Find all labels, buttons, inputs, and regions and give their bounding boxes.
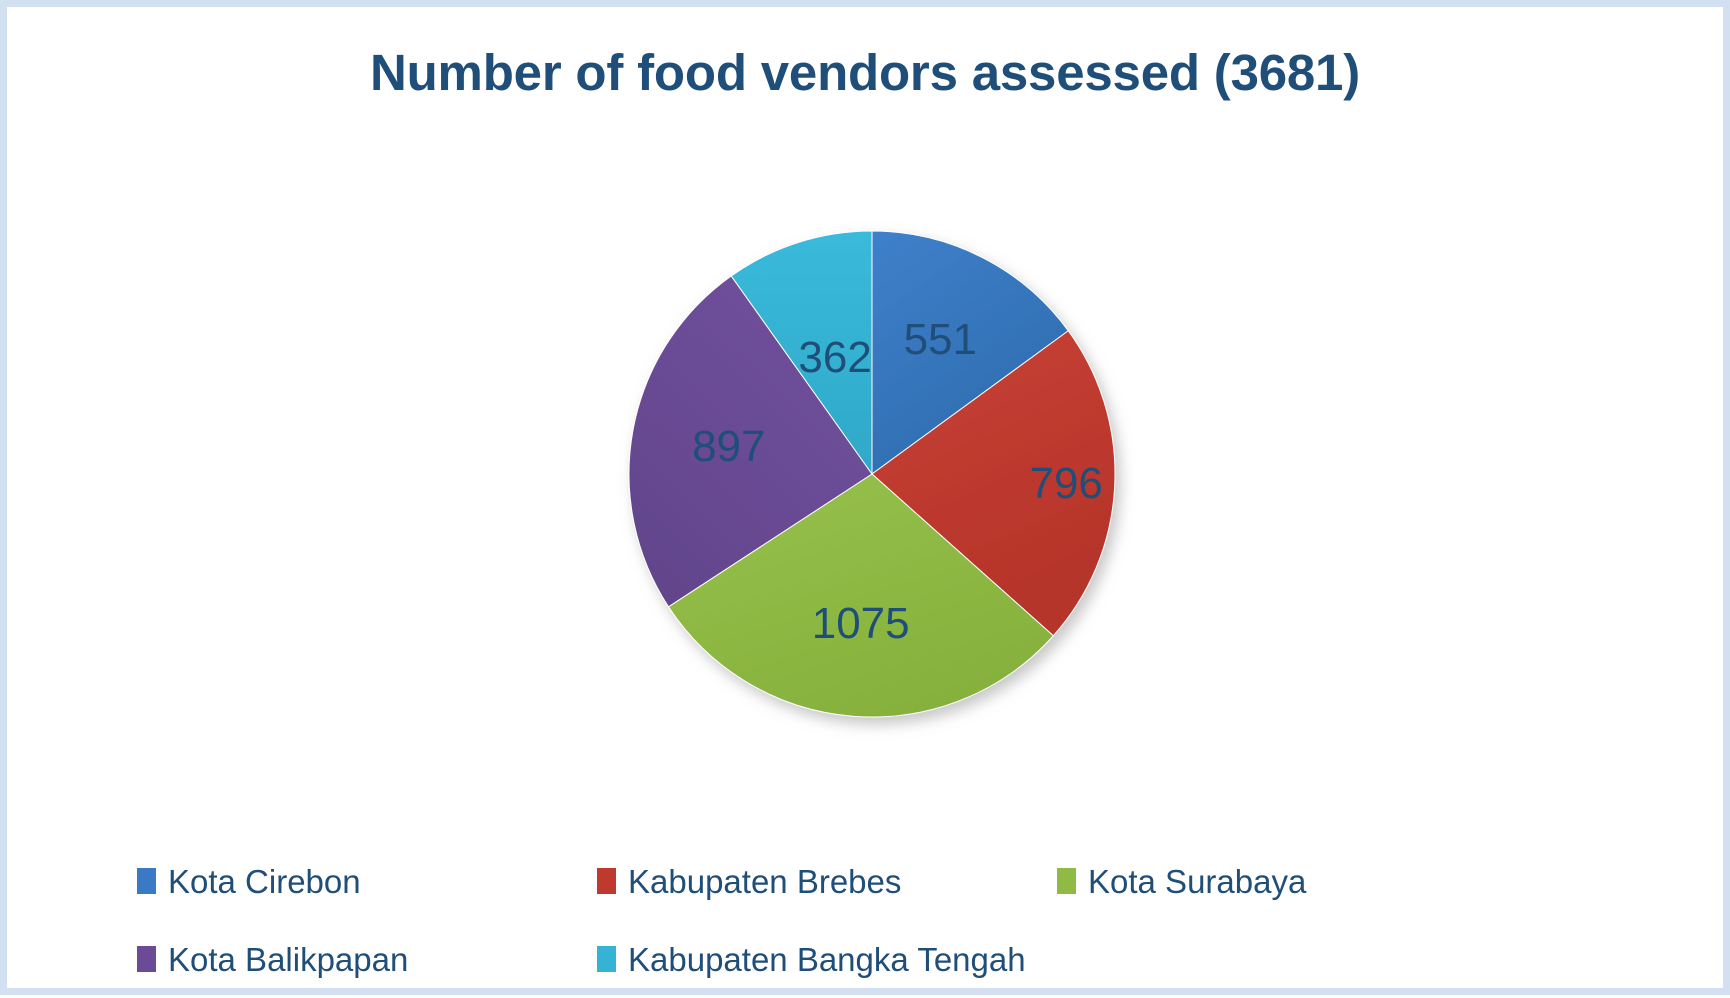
legend-item-label: Kabupaten Bangka Tengah	[628, 943, 1026, 976]
pie-chart: 5517961075897362	[627, 229, 1117, 719]
legend-item[interactable]: Kota Surabaya	[1057, 842, 1517, 920]
legend-swatch-icon	[597, 868, 616, 894]
legend-item-label: Kota Surabaya	[1088, 865, 1306, 898]
pie-slice-group	[629, 231, 1115, 717]
legend-swatch-icon	[137, 868, 156, 894]
chart-legend: Kota CirebonKabupaten BrebesKota Surabay…	[137, 842, 1617, 998]
legend-item-label: Kota Balikpapan	[168, 943, 408, 976]
legend-item-label: Kota Cirebon	[168, 865, 361, 898]
legend-item[interactable]: Kabupaten Bangka Tengah	[597, 920, 1057, 998]
slide-canvas: Number of food vendors assessed (3681)	[0, 0, 1730, 995]
legend-item-label: Kabupaten Brebes	[628, 865, 901, 898]
chart-plot-area: 5517961075897362	[7, 7, 1730, 767]
legend-item[interactable]: Kota Balikpapan	[137, 920, 597, 998]
legend-swatch-icon	[597, 946, 616, 972]
pie-svg	[627, 229, 1117, 719]
legend-swatch-icon	[137, 946, 156, 972]
legend-item[interactable]: Kabupaten Brebes	[597, 842, 1057, 920]
legend-swatch-icon	[1057, 868, 1076, 894]
legend-item[interactable]: Kota Cirebon	[137, 842, 597, 920]
